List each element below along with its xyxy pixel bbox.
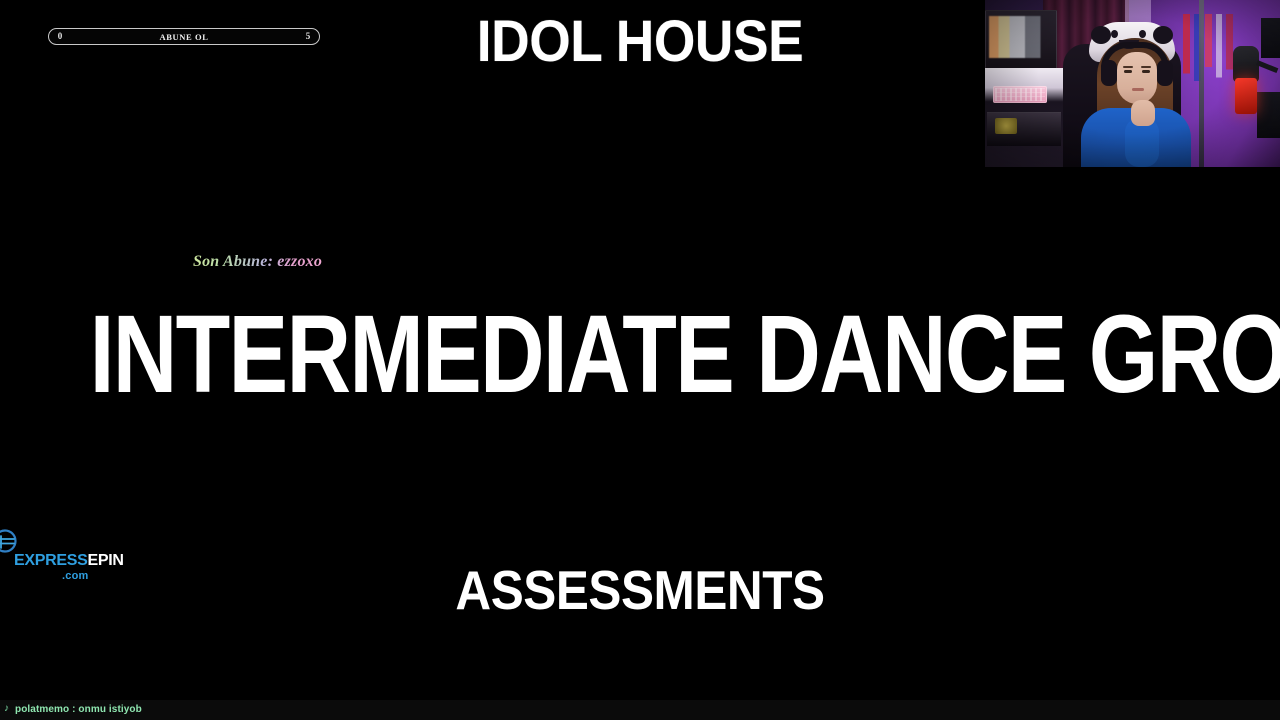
webcam-vignette	[985, 0, 1280, 167]
sponsor-wordmark-secondary: EPIN	[88, 552, 124, 569]
main-headline: INTERMEDIATE DANCE GROUP	[90, 300, 1191, 410]
last-subscriber-label: Son Abune: ezzoxo	[193, 254, 322, 270]
sub-headline: ASSESSMENTS	[64, 563, 1216, 618]
sponsor-wordmark: EXPRESSEPIN	[14, 553, 124, 569]
sponsor-watermark: EXPRESSEPIN .com	[0, 528, 132, 584]
now-playing-text: polatmemo : onmu istiyob	[15, 705, 142, 715]
music-note-icon: ♪	[4, 704, 9, 714]
stream-overlay-stage: 0 ABUNE OL 5 IDOL HOUSE Son Abune: ezzox…	[0, 0, 1280, 720]
sponsor-wordmark-tld: .com	[62, 570, 88, 582]
streamer-webcam[interactable]	[985, 0, 1280, 167]
sponsor-wordmark-primary: EXPRESS	[14, 552, 88, 569]
now-playing-bar: ♪ polatmemo : onmu istiyob	[0, 700, 1280, 720]
